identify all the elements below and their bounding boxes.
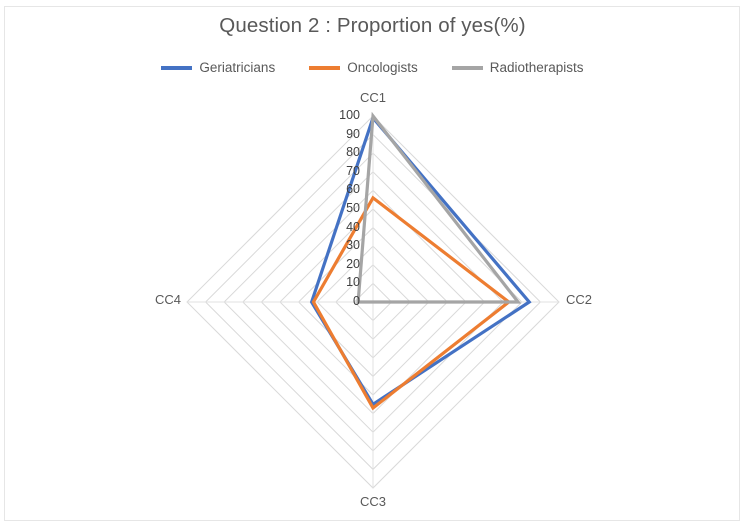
axis-label-cc1: CC1 <box>360 90 386 105</box>
radial-tick-30: 30 <box>300 238 360 252</box>
axis-label-cc3: CC3 <box>360 494 386 509</box>
axis-label-cc4: CC4 <box>155 292 181 307</box>
radial-tick-100: 100 <box>300 108 360 122</box>
radial-tick-20: 20 <box>300 257 360 271</box>
radial-tick-50: 50 <box>300 201 360 215</box>
radial-tick-10: 10 <box>300 275 360 289</box>
radial-tick-40: 40 <box>300 220 360 234</box>
radar-plot <box>0 0 745 526</box>
axis-label-cc2: CC2 <box>566 292 592 307</box>
chart-container: Question 2 : Proportion of yes(%) Geriat… <box>0 0 745 526</box>
radial-tick-80: 80 <box>300 145 360 159</box>
radial-tick-60: 60 <box>300 182 360 196</box>
radial-tick-0: 0 <box>300 294 360 308</box>
radial-tick-90: 90 <box>300 127 360 141</box>
radial-tick-70: 70 <box>300 164 360 178</box>
